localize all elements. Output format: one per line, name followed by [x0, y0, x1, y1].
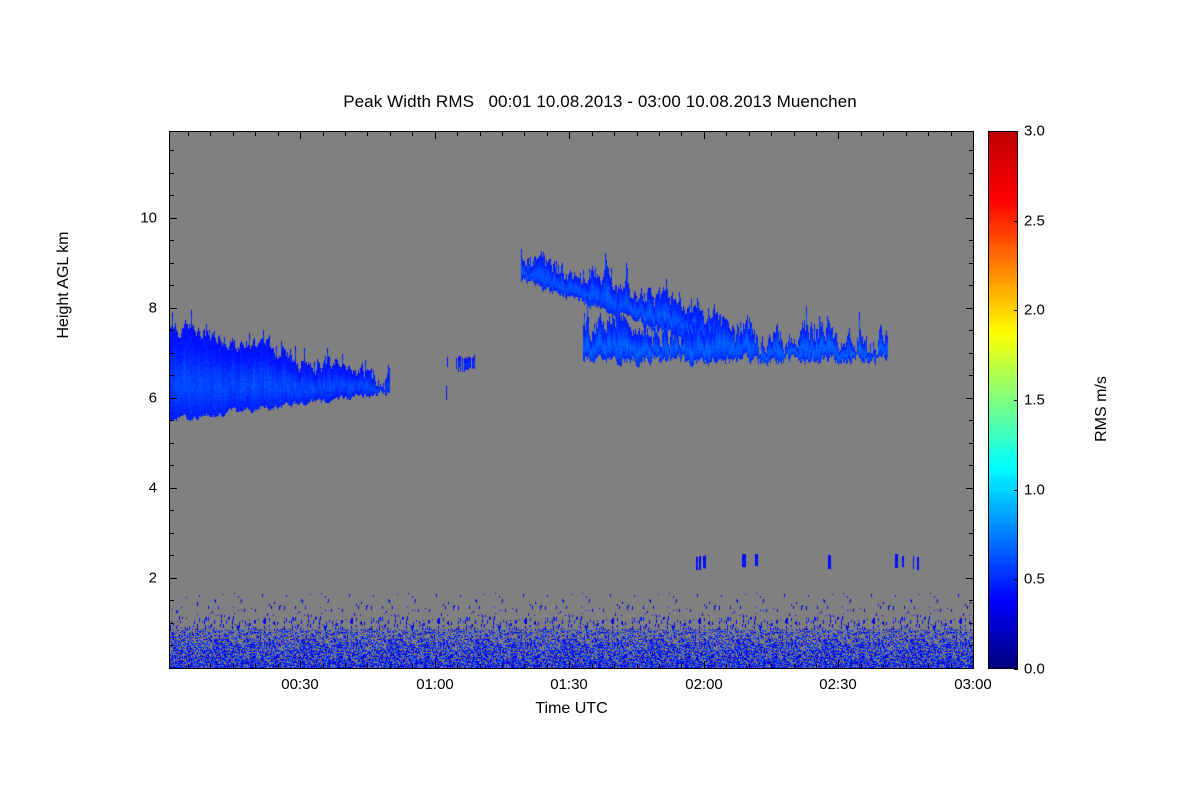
x-tick-label: 02:30 — [819, 676, 857, 693]
x-tick-label: 02:00 — [685, 676, 723, 693]
y-minor-tick-right — [969, 443, 974, 444]
x-minor-tick-top — [255, 131, 256, 136]
x-major-tick-top — [838, 131, 839, 139]
x-minor-tick-top — [637, 131, 638, 136]
x-minor-tick-top — [547, 131, 548, 136]
y-major-tick-right — [966, 488, 974, 489]
y-minor-tick-right — [969, 645, 974, 646]
x-minor-tick — [681, 664, 682, 669]
y-minor-tick-right — [969, 150, 974, 151]
x-minor-tick-top — [749, 131, 750, 136]
x-minor-tick-top — [502, 131, 503, 136]
y-axis-label: Height AGL km — [55, 135, 73, 435]
y-minor-tick — [169, 150, 174, 151]
y-major-tick — [169, 488, 177, 489]
y-tick-label: 4 — [111, 480, 157, 497]
x-minor-tick-top — [794, 131, 795, 136]
x-major-tick-top — [569, 131, 570, 139]
y-minor-tick — [169, 645, 174, 646]
x-minor-tick-top — [928, 131, 929, 136]
y-minor-tick-right — [969, 668, 974, 669]
y-major-tick — [169, 398, 177, 399]
colorbar-tick-label: 3.0 — [1024, 123, 1045, 140]
colorbar-tick-label: 1.5 — [1024, 392, 1045, 409]
x-minor-tick — [390, 664, 391, 669]
y-major-tick — [169, 308, 177, 309]
y-minor-tick — [169, 510, 174, 511]
x-minor-tick-top — [390, 131, 391, 136]
y-minor-tick — [169, 375, 174, 376]
lidar-figure: Peak Width RMS 00:01 10.08.2013 - 03:00 … — [0, 0, 1200, 800]
x-minor-tick — [480, 664, 481, 669]
x-major-tick — [300, 661, 301, 669]
y-tick-label: 10 — [111, 210, 157, 227]
x-minor-tick — [457, 664, 458, 669]
x-major-tick — [569, 661, 570, 669]
y-major-tick-right — [966, 578, 974, 579]
x-major-tick-top — [973, 131, 974, 139]
y-minor-tick-right — [969, 420, 974, 421]
x-minor-tick — [906, 664, 907, 669]
y-minor-tick — [169, 533, 174, 534]
x-minor-tick-top — [210, 131, 211, 136]
colorbar-tick-label: 0.5 — [1024, 571, 1045, 588]
x-minor-tick — [524, 664, 525, 669]
x-minor-tick-top — [412, 131, 413, 136]
x-major-tick-top — [300, 131, 301, 139]
y-minor-tick — [169, 668, 174, 669]
x-minor-tick — [210, 664, 211, 669]
x-minor-tick — [951, 664, 952, 669]
y-minor-tick-right — [969, 600, 974, 601]
y-minor-tick — [169, 263, 174, 264]
heatmap-plot-area — [170, 132, 973, 668]
y-tick-label: 6 — [111, 390, 157, 407]
x-axis-label: Time UTC — [169, 700, 974, 718]
y-minor-tick-right — [969, 285, 974, 286]
x-minor-tick-top — [345, 131, 346, 136]
y-minor-tick-right — [969, 623, 974, 624]
y-minor-tick — [169, 173, 174, 174]
y-minor-tick — [169, 330, 174, 331]
colorbar-gradient — [989, 132, 1017, 668]
y-minor-tick — [169, 600, 174, 601]
x-minor-tick — [771, 664, 772, 669]
x-minor-tick — [883, 664, 884, 669]
x-tick-label: 03:00 — [954, 676, 992, 693]
x-minor-tick — [637, 664, 638, 669]
colorbar-tick — [1014, 579, 1018, 580]
x-minor-tick — [233, 664, 234, 669]
y-major-tick-right — [966, 398, 974, 399]
colorbar-tick — [1014, 400, 1018, 401]
y-minor-tick — [169, 285, 174, 286]
x-minor-tick — [323, 664, 324, 669]
x-minor-tick — [255, 664, 256, 669]
x-minor-tick-top — [188, 131, 189, 136]
colorbar-tick-label: 2.0 — [1024, 302, 1045, 319]
y-tick-label: 8 — [111, 300, 157, 317]
x-major-tick — [435, 661, 436, 669]
y-minor-tick-right — [969, 173, 974, 174]
x-major-tick — [838, 661, 839, 669]
x-minor-tick-top — [233, 131, 234, 136]
y-major-tick — [169, 218, 177, 219]
x-minor-tick-top — [614, 131, 615, 136]
y-minor-tick-right — [969, 555, 974, 556]
x-minor-tick — [188, 664, 189, 669]
x-minor-tick — [659, 664, 660, 669]
x-minor-tick-top — [524, 131, 525, 136]
colorbar-tick-label: 0.0 — [1024, 661, 1045, 678]
colorbar-tick — [1014, 131, 1018, 132]
y-minor-tick-right — [969, 533, 974, 534]
y-minor-tick — [169, 353, 174, 354]
x-minor-tick — [816, 664, 817, 669]
colorbar-tick — [1014, 221, 1018, 222]
y-minor-tick-right — [969, 353, 974, 354]
x-minor-tick — [794, 664, 795, 669]
x-minor-tick-top — [861, 131, 862, 136]
x-minor-tick — [502, 664, 503, 669]
x-minor-tick-top — [480, 131, 481, 136]
x-minor-tick-top — [323, 131, 324, 136]
x-minor-tick-top — [906, 131, 907, 136]
y-minor-tick — [169, 555, 174, 556]
x-minor-tick-top — [457, 131, 458, 136]
x-minor-tick-top — [592, 131, 593, 136]
x-minor-tick — [726, 664, 727, 669]
x-minor-tick — [592, 664, 593, 669]
y-major-tick-right — [966, 308, 974, 309]
colorbar-label: RMS m/s — [1093, 299, 1111, 519]
x-minor-tick-top — [816, 131, 817, 136]
x-minor-tick — [928, 664, 929, 669]
x-minor-tick — [614, 664, 615, 669]
y-minor-tick — [169, 195, 174, 196]
y-minor-tick-right — [969, 375, 974, 376]
y-minor-tick — [169, 443, 174, 444]
y-tick-label: 2 — [111, 570, 157, 587]
y-minor-tick — [169, 240, 174, 241]
y-minor-tick-right — [969, 510, 974, 511]
x-tick-label: 01:30 — [550, 676, 588, 693]
y-minor-tick-right — [969, 465, 974, 466]
colorbar-tick-label: 2.5 — [1024, 213, 1045, 230]
x-minor-tick — [278, 664, 279, 669]
x-minor-tick-top — [883, 131, 884, 136]
page-title: Peak Width RMS 00:01 10.08.2013 - 03:00 … — [0, 92, 1200, 112]
x-minor-tick-top — [681, 131, 682, 136]
y-minor-tick — [169, 623, 174, 624]
x-major-tick-top — [435, 131, 436, 139]
x-minor-tick — [412, 664, 413, 669]
y-minor-tick-right — [969, 240, 974, 241]
colorbar-tick — [1014, 669, 1018, 670]
y-minor-tick-right — [969, 195, 974, 196]
y-minor-tick-right — [969, 330, 974, 331]
x-minor-tick-top — [659, 131, 660, 136]
x-minor-tick — [749, 664, 750, 669]
x-minor-tick-top — [278, 131, 279, 136]
y-major-tick — [169, 578, 177, 579]
x-minor-tick — [367, 664, 368, 669]
x-minor-tick-top — [726, 131, 727, 136]
x-tick-label: 00:30 — [281, 676, 319, 693]
x-minor-tick — [345, 664, 346, 669]
x-minor-tick — [547, 664, 548, 669]
colorbar-tick — [1014, 310, 1018, 311]
y-minor-tick-right — [969, 263, 974, 264]
y-minor-tick — [169, 420, 174, 421]
colorbar-tick-label: 1.0 — [1024, 482, 1045, 499]
colorbar-tick — [1014, 490, 1018, 491]
y-minor-tick — [169, 465, 174, 466]
x-minor-tick-top — [771, 131, 772, 136]
x-major-tick-top — [704, 131, 705, 139]
x-minor-tick-top — [367, 131, 368, 136]
x-minor-tick-top — [951, 131, 952, 136]
x-major-tick — [704, 661, 705, 669]
y-major-tick-right — [966, 218, 974, 219]
x-minor-tick — [861, 664, 862, 669]
x-tick-label: 01:00 — [416, 676, 454, 693]
